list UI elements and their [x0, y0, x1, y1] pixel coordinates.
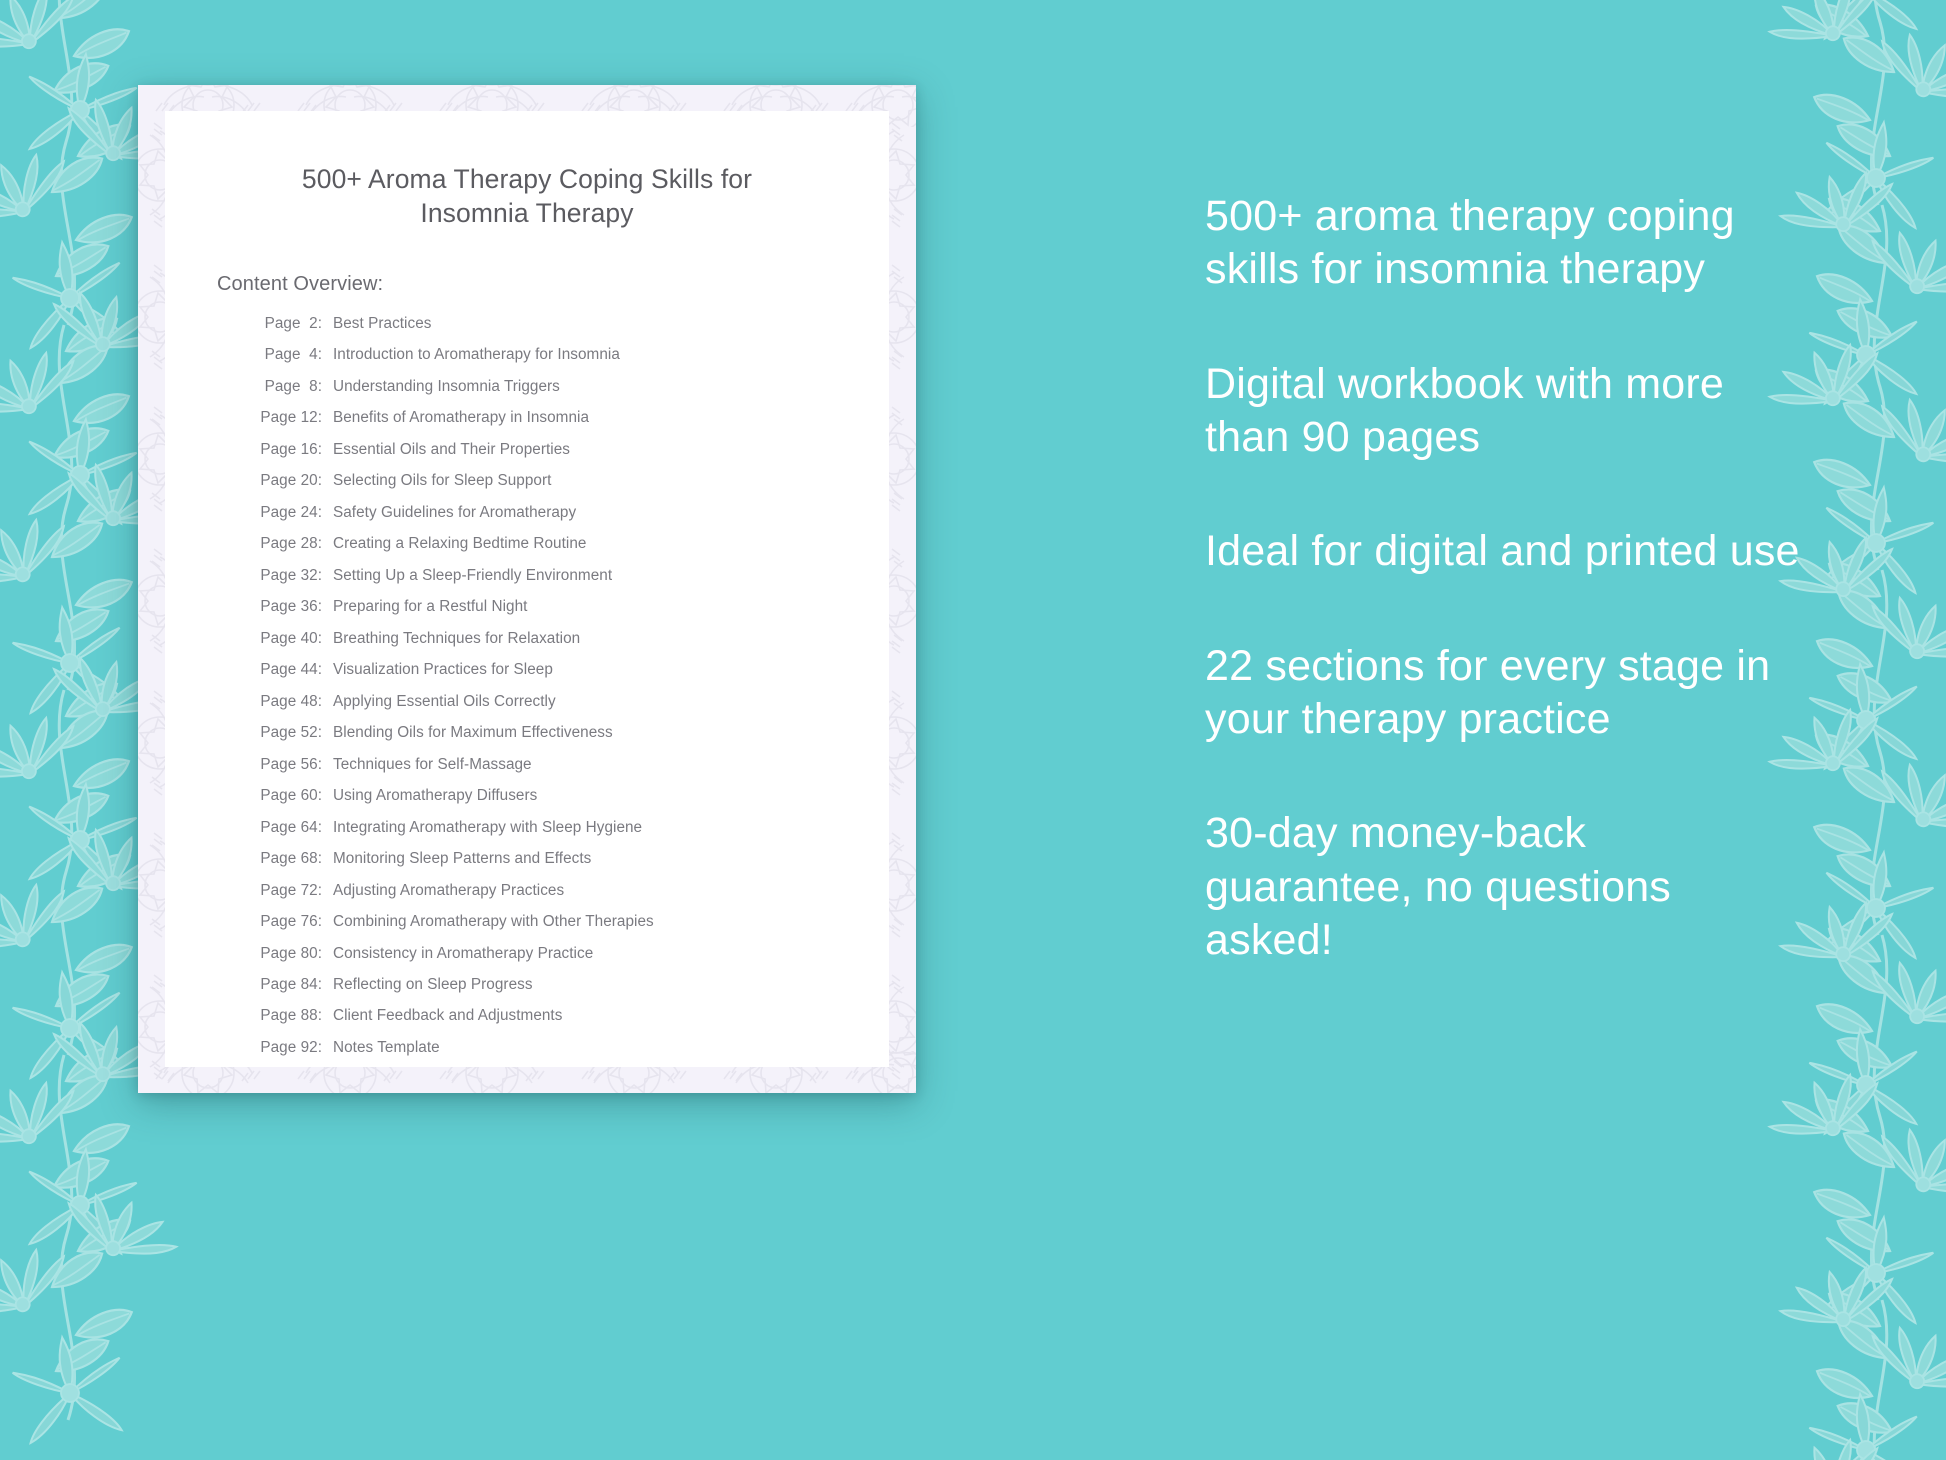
toc-row: Page 72:Adjusting Aromatherapy Practices — [242, 883, 889, 898]
toc-entry-label: Combining Aromatherapy with Other Therap… — [322, 914, 654, 929]
toc-row: Page 64:Integrating Aromatherapy with Sl… — [242, 820, 889, 835]
toc-page-number: Page 64: — [242, 820, 322, 835]
toc-row: Page 16:Essential Oils and Their Propert… — [242, 442, 889, 457]
toc-row: Page 80:Consistency in Aromatherapy Prac… — [242, 946, 889, 961]
document-page: 500+ Aroma Therapy Coping Skills for Ins… — [165, 111, 889, 1067]
toc-row: Page 12:Benefits of Aromatherapy in Inso… — [242, 410, 889, 425]
toc-page-number: Page 40: — [242, 631, 322, 646]
toc-entry-label: Applying Essential Oils Correctly — [322, 694, 556, 709]
toc-row: Page 32:Setting Up a Sleep-Friendly Envi… — [242, 568, 889, 583]
toc-page-number: Page 32: — [242, 568, 322, 583]
toc-entry-label: Essential Oils and Their Properties — [322, 442, 570, 457]
toc-entry-label: Introduction to Aromatherapy for Insomni… — [322, 347, 620, 362]
toc-page-number: Page 56: — [242, 757, 322, 772]
toc-row: Page 40:Breathing Techniques for Relaxat… — [242, 631, 889, 646]
toc-page-number: Page 20: — [242, 473, 322, 488]
toc-entry-label: Preparing for a Restful Night — [322, 599, 527, 614]
toc-page-number: Page 84: — [242, 977, 322, 992]
toc-entry-label: Creating a Relaxing Bedtime Routine — [322, 536, 586, 551]
toc-page-number: Page 4: — [242, 347, 322, 362]
toc-page-number: Page 16: — [242, 442, 322, 457]
toc-row: Page 44:Visualization Practices for Slee… — [242, 662, 889, 677]
promo-block: Digital workbook with more than 90 pages — [1205, 358, 1805, 465]
promo-block: Ideal for digital and printed use — [1205, 525, 1805, 578]
toc-page-number: Page 92: — [242, 1040, 322, 1055]
toc-entry-label: Blending Oils for Maximum Effectiveness — [322, 725, 613, 740]
toc-row: Page 92:Notes Template — [242, 1040, 889, 1055]
toc-entry-label: Notes Template — [322, 1040, 440, 1055]
document-title-line2: Insomnia Therapy — [420, 198, 633, 228]
toc-row: Page 68:Monitoring Sleep Patterns and Ef… — [242, 851, 889, 866]
toc-page-number: Page 28: — [242, 536, 322, 551]
toc-entry-label: Visualization Practices for Sleep — [322, 662, 553, 677]
toc-row: Page 60:Using Aromatherapy Diffusers — [242, 788, 889, 803]
toc-row: Page 48:Applying Essential Oils Correctl… — [242, 694, 889, 709]
toc-page-number: Page 36: — [242, 599, 322, 614]
toc-row: Page 88:Client Feedback and Adjustments — [242, 1008, 889, 1023]
toc-page-number: Page 72: — [242, 883, 322, 898]
table-of-contents: Page 2:Best PracticesPage 4:Introduction… — [165, 316, 889, 1055]
toc-row: Page 52:Blending Oils for Maximum Effect… — [242, 725, 889, 740]
toc-entry-label: Selecting Oils for Sleep Support — [322, 473, 551, 488]
toc-row: Page 76:Combining Aromatherapy with Othe… — [242, 914, 889, 929]
toc-row: Page 56:Techniques for Self-Massage — [242, 757, 889, 772]
toc-page-number: Page 80: — [242, 946, 322, 961]
toc-row: Page 36:Preparing for a Restful Night — [242, 599, 889, 614]
toc-entry-label: Breathing Techniques for Relaxation — [322, 631, 580, 646]
toc-page-number: Page 76: — [242, 914, 322, 929]
toc-row: Page 4:Introduction to Aromatherapy for … — [242, 347, 889, 362]
toc-entry-label: Setting Up a Sleep-Friendly Environment — [322, 568, 612, 583]
toc-row: Page 84:Reflecting on Sleep Progress — [242, 977, 889, 992]
toc-entry-label: Safety Guidelines for Aromatherapy — [322, 505, 576, 520]
toc-page-number: Page 8: — [242, 379, 322, 394]
toc-entry-label: Techniques for Self-Massage — [322, 757, 532, 772]
document-title-line1: 500+ Aroma Therapy Coping Skills for — [302, 164, 752, 194]
toc-page-number: Page 60: — [242, 788, 322, 803]
toc-entry-label: Integrating Aromatherapy with Sleep Hygi… — [322, 820, 642, 835]
toc-page-number: Page 24: — [242, 505, 322, 520]
toc-page-number: Page 2: — [242, 316, 322, 331]
toc-entry-label: Client Feedback and Adjustments — [322, 1008, 562, 1023]
toc-row: Page 2:Best Practices — [242, 316, 889, 331]
document-title: 500+ Aroma Therapy Coping Skills for Ins… — [165, 163, 889, 231]
toc-page-number: Page 12: — [242, 410, 322, 425]
toc-row: Page 20:Selecting Oils for Sleep Support — [242, 473, 889, 488]
promo-block: 22 sections for every stage in your ther… — [1205, 640, 1805, 747]
toc-page-number: Page 44: — [242, 662, 322, 677]
toc-page-number: Page 52: — [242, 725, 322, 740]
toc-entry-label: Understanding Insomnia Triggers — [322, 379, 560, 394]
toc-entry-label: Benefits of Aromatherapy in Insomnia — [322, 410, 589, 425]
toc-entry-label: Consistency in Aromatherapy Practice — [322, 946, 593, 961]
promo-block: 30-day money-back guarantee, no question… — [1205, 807, 1805, 967]
promo-block: 500+ aroma therapy coping skills for ins… — [1205, 190, 1805, 297]
toc-page-number: Page 88: — [242, 1008, 322, 1023]
toc-row: Page 28:Creating a Relaxing Bedtime Rout… — [242, 536, 889, 551]
document-card: 500+ Aroma Therapy Coping Skills for Ins… — [138, 85, 916, 1093]
toc-entry-label: Monitoring Sleep Patterns and Effects — [322, 851, 591, 866]
toc-entry-label: Using Aromatherapy Diffusers — [322, 788, 537, 803]
toc-page-number: Page 48: — [242, 694, 322, 709]
toc-entry-label: Reflecting on Sleep Progress — [322, 977, 533, 992]
toc-entry-label: Adjusting Aromatherapy Practices — [322, 883, 564, 898]
toc-entry-label: Best Practices — [322, 316, 431, 331]
content-overview-label: Content Overview: — [165, 273, 889, 296]
promo-panel: 500+ aroma therapy coping skills for ins… — [1205, 190, 1805, 967]
toc-page-number: Page 68: — [242, 851, 322, 866]
toc-row: Page 8:Understanding Insomnia Triggers — [242, 379, 889, 394]
toc-row: Page 24:Safety Guidelines for Aromathera… — [242, 505, 889, 520]
